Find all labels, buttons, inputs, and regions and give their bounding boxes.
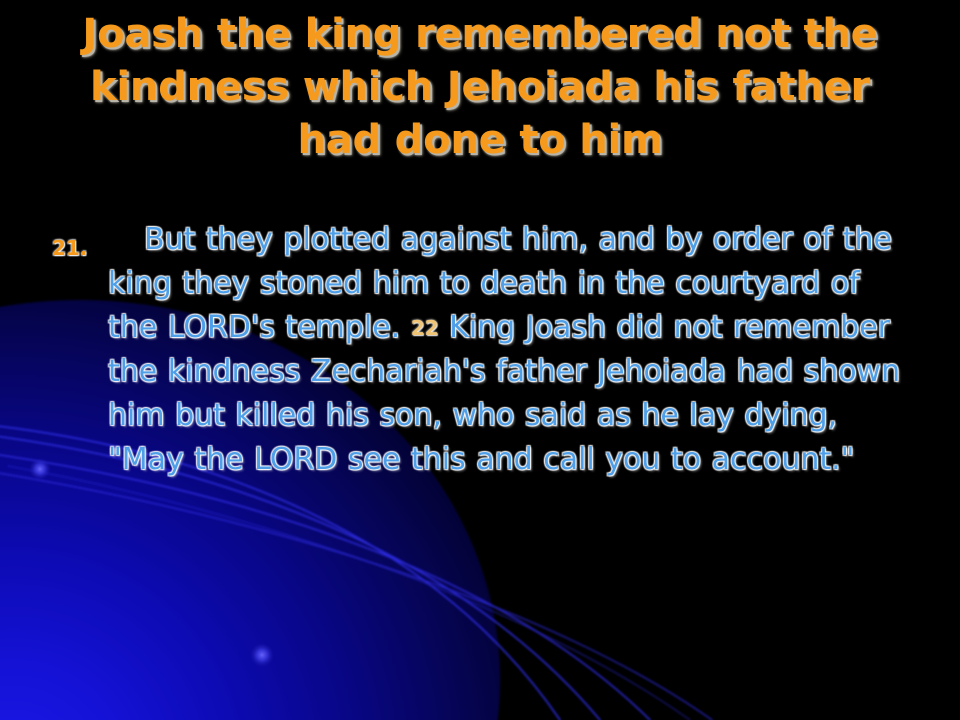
slide-title: Joash the king remembered not the kindne… xyxy=(38,8,922,167)
bullet-number: 21. xyxy=(52,218,108,270)
slide-body: 21. But they plotted against him, and by… xyxy=(52,218,908,482)
slide-canvas: Joash the king remembered not the kindne… xyxy=(0,0,960,720)
decoration-node xyxy=(250,643,274,667)
decoration-node xyxy=(29,458,51,480)
body-paragraph: But they plotted against him, and by ord… xyxy=(108,218,908,482)
title-line-3: had done to him xyxy=(38,114,922,167)
title-line-1: Joash the king remembered not the xyxy=(38,8,922,61)
title-line-2: kindness which Jehoiada his father xyxy=(38,61,922,114)
verse-marker-22: 22 xyxy=(411,316,439,340)
body-list-item: 21. But they plotted against him, and by… xyxy=(52,218,908,482)
